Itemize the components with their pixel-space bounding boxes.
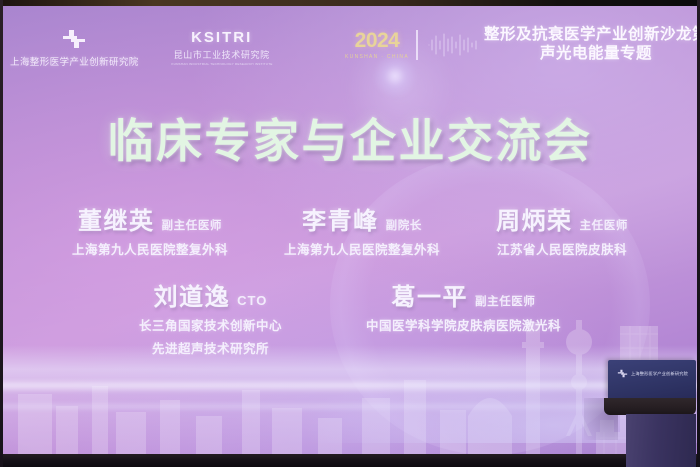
event-theme-line2: 声光电能量专题 — [484, 44, 700, 64]
screen-bezel-left — [0, 0, 3, 467]
podium-logo: 上海整形医学产业创新研究院 — [617, 368, 688, 379]
speaker-row-2: 刘道逸 CTO 长三角国家技术创新中心 先进超声技术研究所 葛一平 副主任医师 … — [0, 277, 700, 358]
speaker-nameline: 周炳荣 主任医师 — [496, 201, 628, 236]
speaker-name: 葛一平 — [392, 277, 469, 312]
speaker-affiliation: 中国医学科学院皮肤病医院激光科 — [366, 317, 561, 335]
speaker-nameline: 董继英 副主任医师 — [72, 201, 228, 236]
conference-room-photo: 上海整形医学产业创新研究院 KSITRI 昆山市工业技术研究院 KUNSHAN … — [0, 0, 700, 467]
sirpm-cross-logo-icon — [617, 368, 628, 379]
speaker-affiliation: 上海第九人民医院整复外科 — [72, 241, 228, 259]
sirpm-cross-logo-icon — [61, 27, 87, 51]
event-year: 2024 — [355, 30, 400, 51]
slide-title: 临床专家与企业交流会 — [0, 105, 700, 171]
speaker-role: 副主任医师 — [475, 293, 536, 309]
podium-front-panel: 上海整形医学产业创新研究院 — [608, 360, 696, 400]
sponsor-logos: 上海整形医学产业创新研究院 KSITRI 昆山市工业技术研究院 KUNSHAN … — [10, 27, 277, 68]
waveform-icon — [426, 32, 478, 58]
speaker-card: 葛一平 副主任医师 中国医学科学院皮肤病医院激光科 — [366, 277, 561, 358]
speaker-nameline: 李青峰 副院长 — [284, 201, 440, 236]
screen-bezel-bottom — [0, 454, 700, 467]
speaker-role: 副院长 — [386, 217, 422, 233]
speaker-role: CTO — [237, 293, 267, 308]
screen-bezel-top — [0, 0, 700, 6]
speaker-affiliation: 上海第九人民医院整复外科 — [284, 241, 440, 259]
event-theme-line1: 整形及抗衰医学产业创新沙龙第 — [484, 25, 700, 44]
event-place: KUNSHAN · CHINA — [345, 54, 409, 60]
speaker-row-1: 董继英 副主任医师 上海第九人民医院整复外科 李青峰 副院长 上海第九人民医院整… — [0, 201, 700, 259]
speaker-card: 周炳荣 主任医师 江苏省人民医院皮肤科 — [496, 201, 628, 259]
speaker-affiliation-second-line: 先进超声技术研究所 — [139, 340, 282, 358]
event-badge: 2024 KUNSHAN · CHINA 整形及抗衰医学产业创新沙龙第 声光电能… — [345, 25, 700, 65]
speaker-affiliation: 长三角国家技术创新中心 — [139, 317, 282, 335]
speaker-name: 周炳荣 — [496, 201, 573, 236]
ksitri-wordmark: KSITRI — [191, 30, 252, 45]
speaker-role: 主任医师 — [580, 217, 628, 233]
podium-desktop — [604, 398, 696, 415]
speaker-card: 董继英 副主任医师 上海第九人民医院整复外科 — [72, 201, 228, 259]
ksitri-logo-label-en: KUNSHAN INDUSTRIAL TECHNOLOGY RESEARCH I… — [171, 62, 272, 66]
ksitri-logo: KSITRI 昆山市工业技术研究院 KUNSHAN INDUSTRIAL TEC… — [167, 30, 277, 66]
speaker-affiliation: 江苏省人民医院皮肤科 — [496, 241, 628, 259]
speaker-list: 董继英 副主任医师 上海第九人民医院整复外科 李青峰 副院长 上海第九人民医院整… — [0, 201, 700, 358]
speaker-name: 董继英 — [78, 201, 155, 236]
speaker-card: 刘道逸 CTO 长三角国家技术创新中心 先进超声技术研究所 — [139, 277, 282, 358]
podium-logo-label: 上海整形医学产业创新研究院 — [631, 371, 688, 377]
sirpm-logo-label: 上海整形医学产业创新研究院 — [10, 54, 139, 68]
sirpm-logo: 上海整形医学产业创新研究院 — [10, 27, 139, 68]
speaker-nameline: 刘道逸 CTO — [139, 277, 282, 312]
event-theme: 整形及抗衰医学产业创新沙龙第 声光电能量专题 — [484, 25, 700, 65]
podium: 上海整形医学产业创新研究院 — [600, 360, 696, 467]
speaker-name: 李青峰 — [302, 201, 379, 236]
event-year-block: 2024 KUNSHAN · CHINA — [345, 30, 418, 60]
podium-column — [626, 414, 696, 467]
ksitri-logo-label-cn: 昆山市工业技术研究院 — [174, 48, 270, 61]
speaker-card: 李青峰 副院长 上海第九人民医院整复外科 — [284, 201, 440, 259]
speaker-name: 刘道逸 — [154, 277, 231, 312]
speaker-role: 副主任医师 — [162, 217, 223, 233]
speaker-nameline: 葛一平 副主任医师 — [366, 277, 561, 312]
projection-screen: 上海整形医学产业创新研究院 KSITRI 昆山市工业技术研究院 KUNSHAN … — [0, 5, 700, 455]
